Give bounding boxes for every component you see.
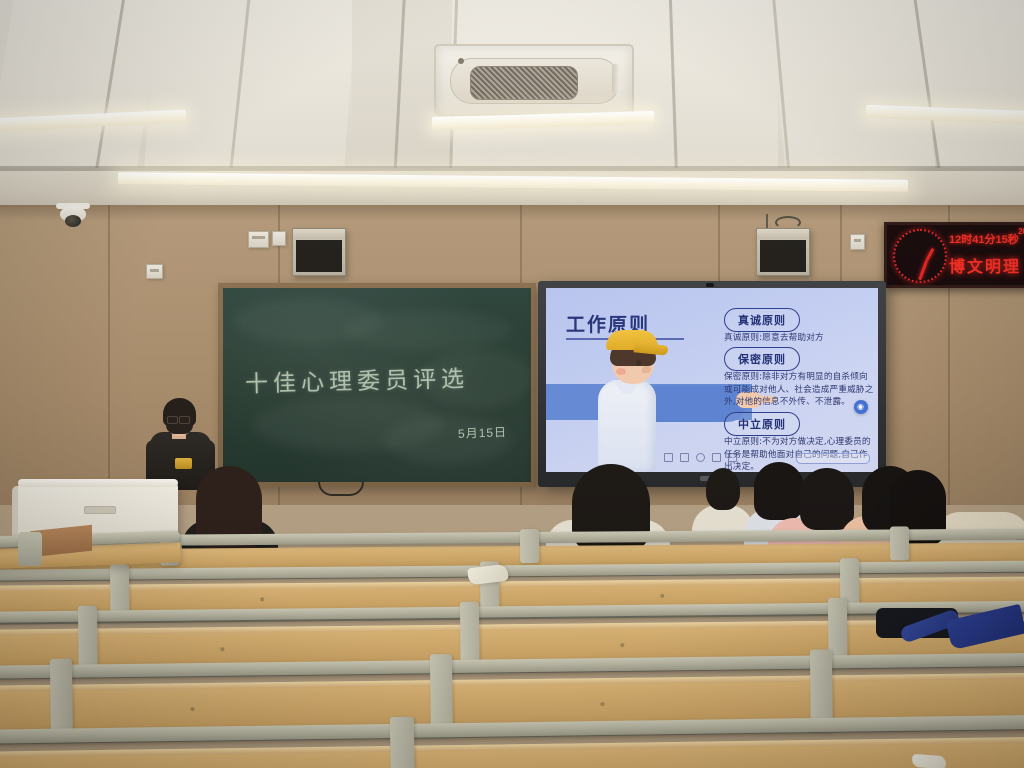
speaker-grille-icon xyxy=(296,240,342,272)
shape-icon[interactable] xyxy=(696,453,705,462)
eraser-icon[interactable] xyxy=(712,453,721,462)
illustration-nose xyxy=(642,366,651,373)
illustration-cheek xyxy=(616,368,626,375)
speaker-grille-icon xyxy=(760,240,806,272)
cursor-icon[interactable] xyxy=(664,453,673,462)
smartboard-input-bar[interactable] xyxy=(796,453,870,464)
lecture-hall-photo: 12时41分15秒 20 博文明理 十佳心理委员评选 5月15日 工作原则 xyxy=(0,0,1024,768)
presenter-glasses xyxy=(167,416,178,424)
wall-outlet-plate[interactable] xyxy=(272,231,286,246)
led-motto-text: 博文明理 xyxy=(949,253,1021,277)
presenter-badge xyxy=(175,458,192,469)
ceiling-panel xyxy=(770,0,935,172)
principle-text-1: 真诚原则:愿意去帮助对方 xyxy=(724,332,874,345)
speaker-cable xyxy=(775,216,801,229)
blackboard-date-text: 5月15日 xyxy=(458,423,508,442)
smartboard-camera-icon xyxy=(706,283,714,287)
badge-glyph: ◉ xyxy=(857,402,864,411)
speaker-top xyxy=(293,229,345,239)
presenter-glasses xyxy=(179,416,190,424)
blackboard-title-text: 十佳心理委员评选 xyxy=(245,359,470,398)
principle-pill-3: 中立原则 xyxy=(724,412,800,436)
wall-top-shadow xyxy=(0,205,1024,221)
wall-seam xyxy=(108,205,110,505)
led-clock-sign: 12时41分15秒 20 博文明理 xyxy=(884,222,1024,288)
ceiling-panel xyxy=(674,0,778,172)
wall-speaker xyxy=(292,228,346,276)
led-year-fragment: 20 xyxy=(1018,227,1024,236)
principle-pill-1: 真诚原则 xyxy=(724,308,800,332)
wall-switch-plate[interactable] xyxy=(146,264,163,279)
bench-end-bracket xyxy=(18,532,42,566)
blackboard: 十佳心理委员评选 5月15日 xyxy=(223,288,531,482)
smartboard-screen[interactable]: 工作原则 真诚原则 真诚原则:愿意去帮助对方 保密原则 保密原则:除非对方有明显… xyxy=(546,288,878,472)
ceiling-ac-cassette xyxy=(434,44,634,116)
ceiling-panel xyxy=(144,0,356,172)
podium-top xyxy=(18,479,178,487)
principle-pill-2: 保密原则 xyxy=(724,347,800,371)
illustration-eye xyxy=(636,360,641,366)
slide-badge-icon[interactable]: ◉ xyxy=(854,400,868,414)
frame-icon[interactable] xyxy=(728,453,737,462)
wall-switch-plate[interactable] xyxy=(850,234,865,250)
led-time-text: 12时41分15秒 xyxy=(949,231,1019,247)
pen-icon[interactable] xyxy=(680,453,689,462)
vent-grille-icon xyxy=(470,66,578,100)
antenna-icon xyxy=(766,214,768,228)
wall-switch-plate[interactable] xyxy=(248,231,269,248)
wall-speaker xyxy=(756,228,810,276)
led-analog-clock-icon xyxy=(893,229,947,283)
ceiling-panel xyxy=(0,0,164,172)
cassette-tab xyxy=(612,64,620,94)
smartboard-toolbar[interactable] xyxy=(660,452,748,463)
speaker-top xyxy=(757,229,809,239)
camera-lens-icon xyxy=(65,215,81,227)
principle-text-2: 保密原则:除非对方有明显的自杀倾向或可能成对他人、社会造成严重威胁之外,对他的信… xyxy=(724,371,874,409)
board-cable xyxy=(318,482,364,496)
crumpled-tissue xyxy=(912,754,947,768)
clock-hour-hand xyxy=(925,248,934,262)
sensor-dot-icon xyxy=(458,58,464,64)
podium-label xyxy=(84,506,116,514)
clock-minute-hand xyxy=(918,260,928,280)
cove-lip xyxy=(0,166,1024,171)
